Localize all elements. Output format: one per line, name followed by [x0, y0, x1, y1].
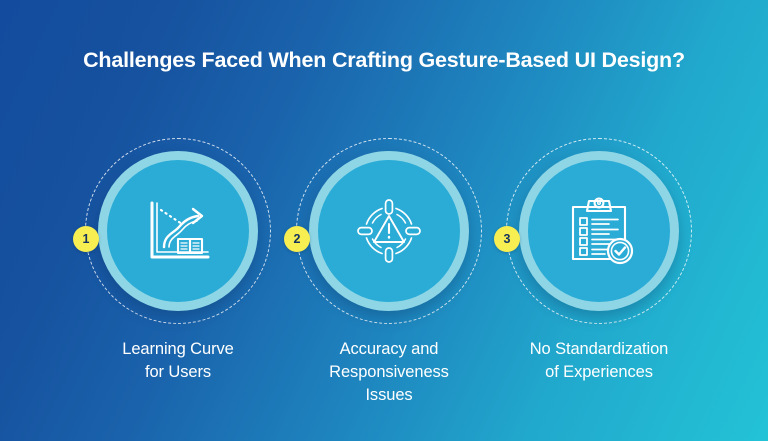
header: Challenges Faced When Crafting Gesture-B… — [0, 0, 768, 120]
step-caption-2: Accuracy and Responsiveness Issues — [274, 338, 504, 407]
caption-line: Learning Curve — [63, 338, 293, 361]
target-warning-triangle-icon — [352, 194, 426, 268]
step-item-3[interactable]: 3 — [484, 120, 714, 441]
circle-disc-3 — [528, 160, 670, 302]
caption-line: for Users — [63, 361, 293, 384]
circle-ring-1 — [98, 151, 258, 311]
circle-disc-1 — [107, 160, 249, 302]
step-number-badge-2: 2 — [284, 226, 310, 252]
caption-line: Issues — [274, 384, 504, 407]
step-caption-3: No Standardization of Experiences — [484, 338, 714, 384]
caption-line: of Experiences — [484, 361, 714, 384]
steps-row: 1 — [0, 120, 768, 441]
step-caption-1: Learning Curve for Users — [63, 338, 293, 384]
learning-curve-graph-book-icon — [138, 191, 218, 271]
step-item-1[interactable]: 1 — [63, 120, 293, 441]
circle-ring-3 — [519, 151, 679, 311]
caption-line: Accuracy and — [274, 338, 504, 361]
circle-ring-2 — [309, 151, 469, 311]
step-item-2[interactable]: 2 — [274, 120, 504, 441]
page-title: Challenges Faced When Crafting Gesture-B… — [83, 48, 685, 73]
circle-disc-2 — [318, 160, 460, 302]
step-number-badge-1: 1 — [73, 226, 99, 252]
clipboard-checklist-verified-icon — [561, 193, 637, 269]
caption-line: Responsiveness — [274, 361, 504, 384]
caption-line: No Standardization — [484, 338, 714, 361]
step-number-badge-3: 3 — [494, 226, 520, 252]
